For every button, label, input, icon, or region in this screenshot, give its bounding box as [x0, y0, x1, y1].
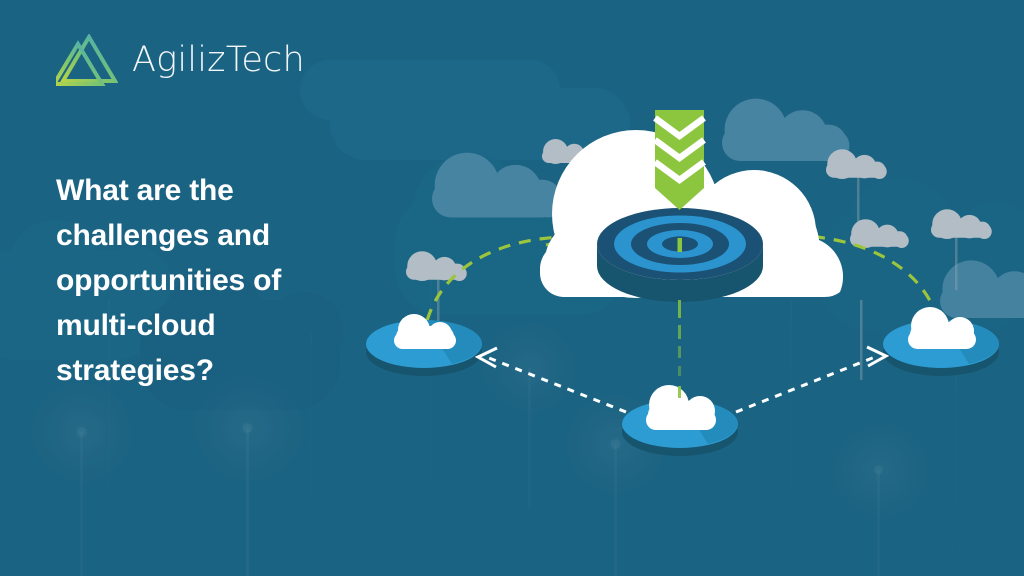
brand-logo[interactable]: AgilizTech [56, 34, 305, 86]
slide-canvas: AgilizTech What are the challenges and o… [0, 0, 1024, 576]
arrow-shaft-tip [678, 238, 683, 252]
connector-bottom-to-right [736, 357, 875, 412]
platform-cloud-right [908, 307, 976, 349]
cloud-platform-right[interactable] [883, 307, 999, 376]
connector-bottom-to-left [489, 358, 626, 412]
platform-cloud-left [394, 314, 456, 349]
arrow-trail-bottom [678, 386, 681, 398]
arrowhead-right [867, 347, 886, 366]
cloud-platform-left[interactable] [366, 314, 482, 376]
arrow-shaft-below [678, 300, 681, 376]
bullseye-target [597, 208, 763, 302]
page-title: What are the challenges and opportunitie… [56, 168, 356, 393]
triangle-logo-icon [56, 34, 118, 86]
brand-name: AgilizTech [132, 43, 305, 78]
